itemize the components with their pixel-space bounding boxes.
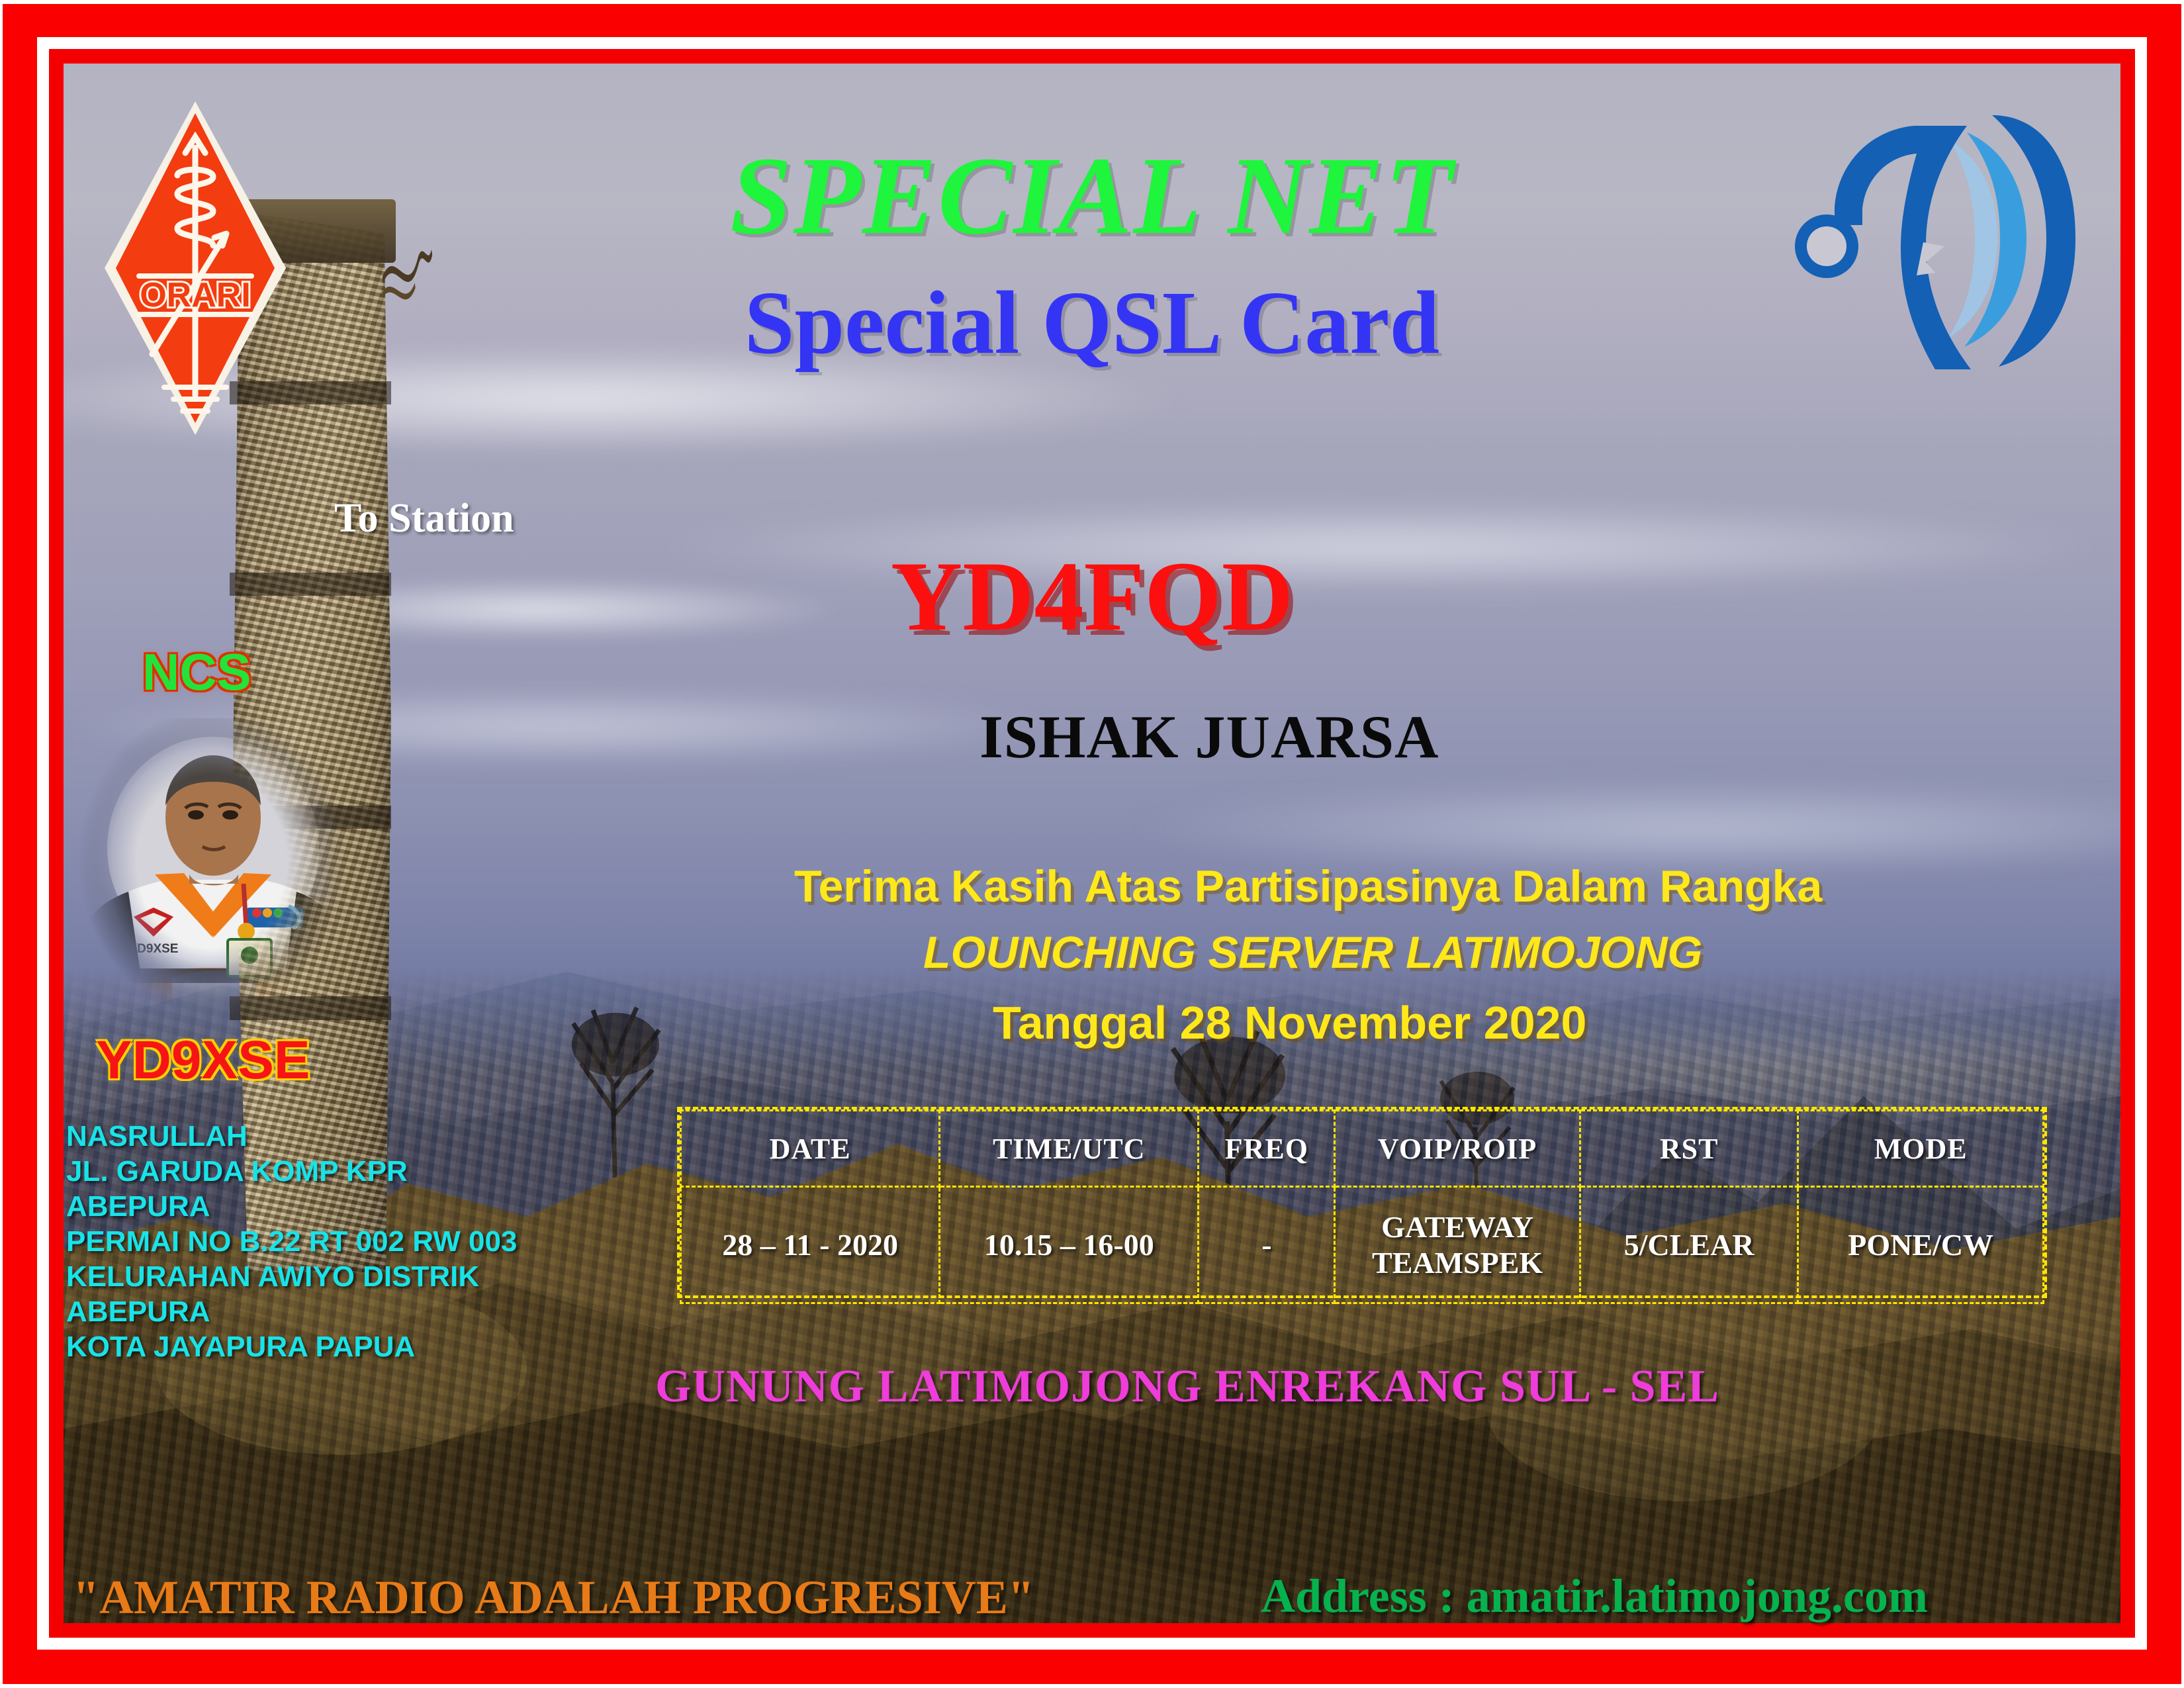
ncs-callsign: YD9XSE <box>96 1029 310 1092</box>
card-content: ORARI SPECIAL NET Special QSL Card To St… <box>0 0 2184 1688</box>
thanks-line-1: Terima Kasih Atas Partisipasinya Dalam R… <box>794 861 1822 912</box>
cell-voip-line1: GATEWAY <box>1336 1209 1578 1245</box>
address-line: ABEPURA <box>66 1189 517 1224</box>
header-voip-roip: VOIP/ROIP <box>1335 1111 1580 1187</box>
cell-freq: - <box>1199 1187 1335 1303</box>
address-line: JL. GARUDA KOMP KPR <box>66 1154 517 1189</box>
header-freq: FREQ <box>1199 1111 1335 1187</box>
station-callsign: YD4FQD <box>0 539 2184 653</box>
cell-rst: 5/CLEAR <box>1580 1187 1797 1303</box>
page-title: SPECIAL NET <box>0 132 2184 260</box>
cell-time: 10.15 – 16-00 <box>940 1187 1199 1303</box>
address-line: KELURAHAN AWIYO DISTRIK <box>66 1259 517 1294</box>
header-time: TIME/UTC <box>940 1111 1199 1187</box>
thanks-line-3: Tanggal 28 November 2020 <box>993 996 1586 1049</box>
ncs-label: NCS <box>142 642 251 702</box>
motto-text: "AMATIR RADIO ADALAH PROGRESIVE" <box>73 1570 1034 1625</box>
address-line: NASRULLAH <box>66 1119 517 1154</box>
cell-date: 28 – 11 - 2020 <box>681 1187 940 1303</box>
qso-log-table: DATE TIME/UTC FREQ VOIP/ROIP RST MODE 28… <box>677 1107 2047 1298</box>
header-date: DATE <box>681 1111 940 1187</box>
qsl-card: ORARI SPECIAL NET Special QSL Card To St… <box>0 0 2184 1688</box>
ncs-operator-portrait: YD9XSE <box>73 718 351 1016</box>
address-block: NASRULLAH JL. GARUDA KOMP KPR ABEPURA PE… <box>66 1119 517 1364</box>
header-mode: MODE <box>1798 1111 2044 1187</box>
address-line: ABEPURA <box>66 1294 517 1329</box>
address-line: KOTA JAYAPURA PAPUA <box>66 1329 517 1364</box>
cell-voip-line2: TEAMSPEK <box>1336 1245 1578 1281</box>
subtitle: Special QSL Card <box>0 271 2184 375</box>
website-address: Address : amatir.latimojong.com <box>1261 1569 1928 1624</box>
table-header-row: DATE TIME/UTC FREQ VOIP/ROIP RST MODE <box>681 1111 2044 1187</box>
operator-name: ISHAK JUARSA <box>979 702 1439 772</box>
cell-voip-roip: GATEWAY TEAMSPEK <box>1335 1187 1580 1303</box>
header-rst: RST <box>1580 1111 1797 1187</box>
cell-mode: PONE/CW <box>1798 1187 2044 1303</box>
event-location: GUNUNG LATIMOJONG ENREKANG SUL - SEL <box>655 1360 1719 1413</box>
thanks-line-2: LOUNCHING SERVER LATIMOJONG <box>923 927 1702 978</box>
address-line: PERMAI NO B.22 RT 002 RW 003 <box>66 1224 517 1259</box>
table-row: 28 – 11 - 2020 10.15 – 16-00 - GATEWAY T… <box>681 1187 2044 1303</box>
to-station-label: To Station <box>334 495 514 542</box>
